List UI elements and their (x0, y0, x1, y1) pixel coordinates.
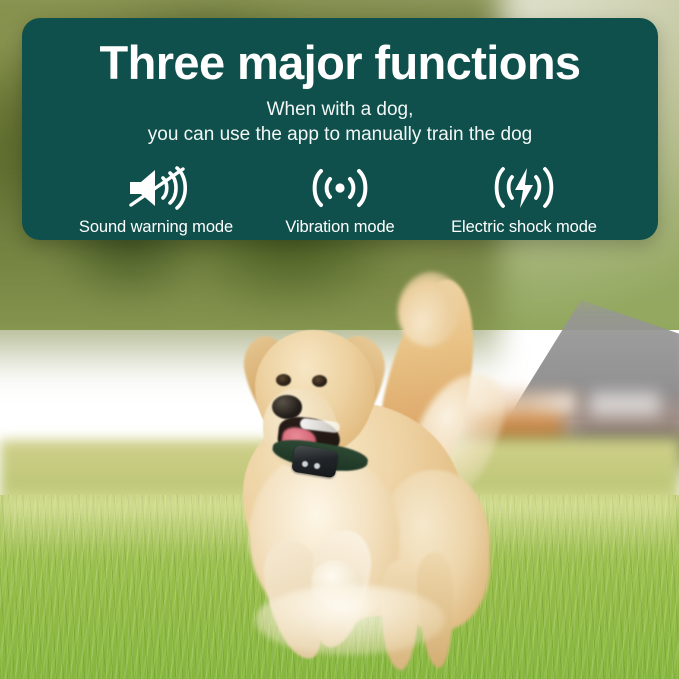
muted-speaker-icon (62, 164, 250, 212)
dog-nose (272, 395, 302, 419)
mode-list: Sound warning mode Vibration mode (22, 164, 658, 237)
collar-contact-point-left (302, 461, 308, 467)
mode-item-electric-shock: Electric shock mode (420, 164, 628, 237)
mode-label-sound-warning: Sound warning mode (62, 218, 250, 237)
page-title: Three major functions (22, 38, 658, 88)
dog-eye-right (312, 375, 327, 387)
mode-item-vibration: Vibration mode (260, 164, 420, 237)
subtitle-line-2: you can use the app to manually train th… (22, 122, 658, 147)
dog-belly-fringe (255, 585, 445, 655)
panel-subtitle: When with a dog, you can use the app to … (22, 97, 658, 148)
lightning-bolt-waves-icon (430, 164, 618, 212)
subtitle-line-1: When with a dog, (22, 97, 658, 122)
mode-label-vibration: Vibration mode (270, 218, 410, 237)
mode-item-sound-warning: Sound warning mode (52, 164, 260, 237)
dog-eye-left (276, 374, 291, 386)
mode-label-electric-shock: Electric shock mode (430, 218, 618, 237)
product-infographic: Three major functions When with a dog, y… (0, 0, 679, 679)
vibration-waves-icon (270, 164, 410, 212)
collar-contact-point-right (314, 463, 320, 469)
feature-panel: Three major functions When with a dog, y… (22, 18, 658, 240)
